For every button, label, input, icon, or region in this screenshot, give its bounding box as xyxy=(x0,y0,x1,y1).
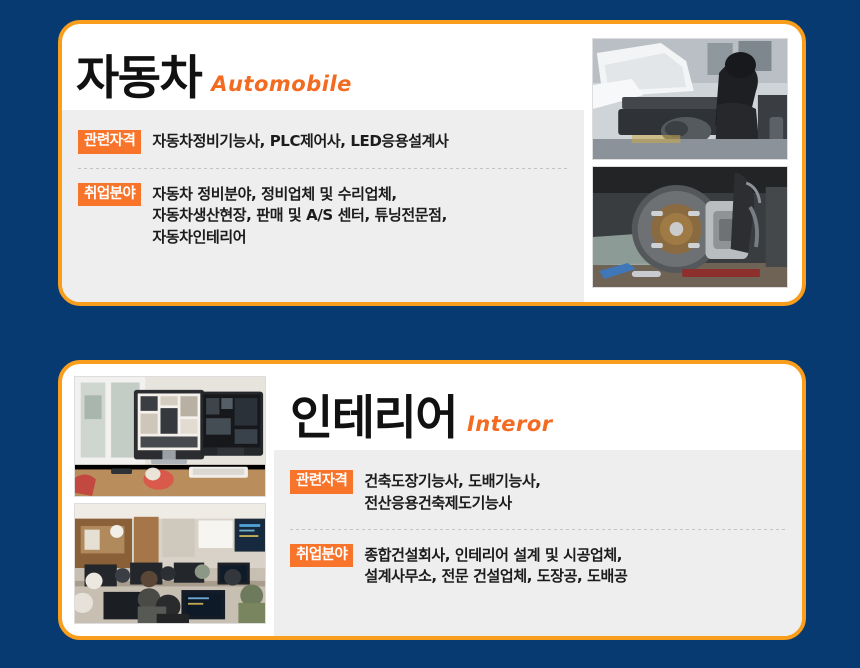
interior-title-row: 인테리어 Interor xyxy=(274,364,802,450)
text-line: 건축도장기능사, 도배기능사, xyxy=(364,471,540,493)
automobile-title-row: 자동차 Automobile xyxy=(62,24,584,110)
interior-divider xyxy=(290,529,788,530)
automobile-divider xyxy=(78,168,570,169)
card-automobile[interactable]: 자동차 Automobile 관련자격 자동차정비기능사, PLC제어사, LE… xyxy=(58,20,806,306)
interior-photo-column xyxy=(62,364,274,636)
photo-computer-classroom-students xyxy=(74,503,266,624)
text-line: 자동차 정비분야, 정비업체 및 수리업체, xyxy=(152,184,447,206)
automobile-text-column: 자동차 Automobile 관련자격 자동차정비기능사, PLC제어사, LE… xyxy=(62,24,584,302)
text-line: 전산응용건축제도기능사 xyxy=(364,493,540,515)
automobile-row-employment: 취업분야 자동차 정비분야, 정비업체 및 수리업체, 자동차생산현장, 판매 … xyxy=(74,177,574,255)
interior-row-employment: 취업분야 종합건설회사, 인테리어 설계 및 시공업체, 설계사무소, 전문 건… xyxy=(286,538,792,595)
photo-brake-disc-assembly xyxy=(592,166,788,288)
page-subtitle-interior-en: Interor xyxy=(467,412,553,442)
status-badge-certifications: 관련자격 xyxy=(290,470,353,494)
automobile-certifications-text: 자동차정비기능사, PLC제어사, LED응용설계사 xyxy=(152,130,448,153)
automobile-employment-text: 자동차 정비분야, 정비업체 및 수리업체, 자동차생산현장, 판매 및 A/S… xyxy=(152,183,447,249)
automobile-info-panel: 관련자격 자동차정비기능사, PLC제어사, LED응용설계사 취업분야 자동차… xyxy=(62,110,584,302)
status-badge-employment: 취업분야 xyxy=(78,183,141,207)
text-line: 자동차인테리어 xyxy=(152,227,447,249)
interior-employment-text: 종합건설회사, 인테리어 설계 및 시공업체, 설계사무소, 전문 건설업체, … xyxy=(364,544,627,589)
status-badge-employment: 취업분야 xyxy=(290,544,353,568)
text-line: 자동차생산현장, 판매 및 A/S 센터, 튜닝전문점, xyxy=(152,205,447,227)
page-subtitle-automobile-en: Automobile xyxy=(211,72,352,102)
automobile-photo-column xyxy=(584,24,802,302)
text-line: 종합건설회사, 인테리어 설계 및 시공업체, xyxy=(364,545,627,567)
photo-car-engine-bay-mechanic xyxy=(592,38,788,160)
card-interior[interactable]: 인테리어 Interor 관련자격 건축도장기능사, 도배기능사, 전산응용건축… xyxy=(58,360,806,640)
interior-row-certifications: 관련자격 건축도장기능사, 도배기능사, 전산응용건축제도기능사 xyxy=(286,464,792,521)
text-line: 설계사무소, 전문 건설업체, 도장공, 도배공 xyxy=(364,566,627,588)
photo-design-workstation-monitors xyxy=(74,376,266,497)
text-line: 자동차정비기능사, PLC제어사, LED응용설계사 xyxy=(152,131,448,153)
page-title-interior-ko: 인테리어 xyxy=(290,395,457,442)
page-title-automobile-ko: 자동차 xyxy=(76,55,201,102)
automobile-row-certifications: 관련자격 자동차정비기능사, PLC제어사, LED응용설계사 xyxy=(74,124,574,160)
status-badge-certifications: 관련자격 xyxy=(78,130,141,154)
interior-certifications-text: 건축도장기능사, 도배기능사, 전산응용건축제도기능사 xyxy=(364,470,540,515)
interior-info-panel: 관련자격 건축도장기능사, 도배기능사, 전산응용건축제도기능사 취업분야 종합… xyxy=(274,450,802,636)
interior-text-column: 인테리어 Interor 관련자격 건축도장기능사, 도배기능사, 전산응용건축… xyxy=(274,364,802,636)
